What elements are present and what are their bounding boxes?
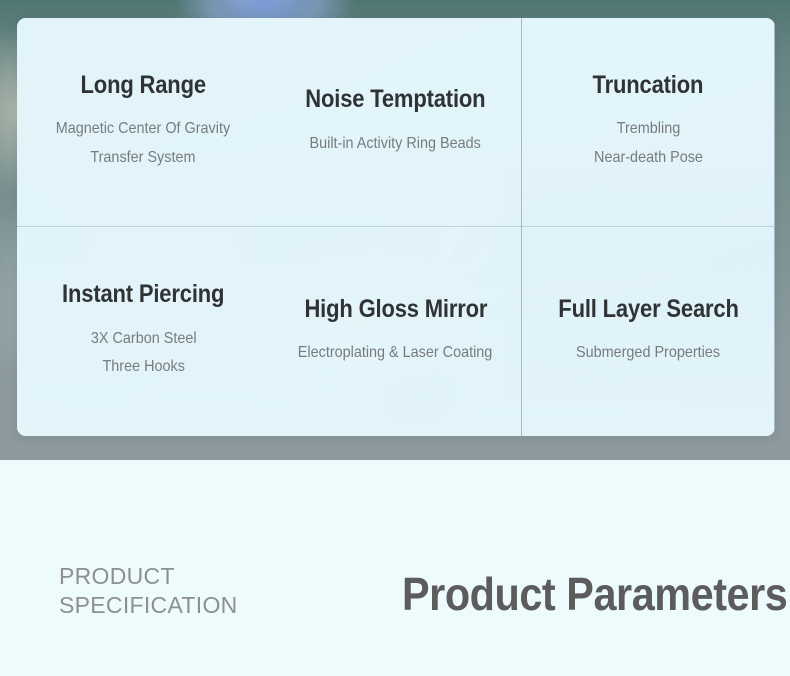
feature-cell-instant-piercing[interactable]: Instant Piercing 3X Carbon Steel Three H… <box>17 227 270 436</box>
feature-cell-noise-temptation[interactable]: Noise Temptation Built-in Activity Ring … <box>270 18 523 227</box>
feature-cell-truncation[interactable]: Truncation Trembling Near-death Pose <box>522 18 775 227</box>
product-feature-page: KINGDOM Quality Gloves Long Range Magnet… <box>0 0 790 676</box>
feature-subtitle: Submerged Properties <box>576 339 720 367</box>
feature-title: Long Range <box>81 72 206 100</box>
feature-title: Instant Piercing <box>62 281 224 309</box>
spec-section-title: Product Parameters <box>402 570 787 618</box>
feature-title: High Gloss Mirror <box>304 296 487 324</box>
feature-subtitle: Trembling Near-death Pose <box>594 115 703 172</box>
feature-title: Truncation <box>593 72 704 100</box>
feature-subtitle: Built-in Activity Ring Beads <box>310 130 481 158</box>
feature-subtitle: Magnetic Center Of Gravity Transfer Syst… <box>56 115 230 172</box>
feature-card: KINGDOM Quality Gloves Long Range Magnet… <box>17 18 775 436</box>
spec-kicker-label: PRODUCT SPECIFICATION <box>59 562 238 620</box>
feature-subtitle: Electroplating & Laser Coating <box>298 339 493 367</box>
feature-cell-long-range[interactable]: Long Range Magnetic Center Of Gravity Tr… <box>17 18 270 227</box>
feature-grid: Long Range Magnetic Center Of Gravity Tr… <box>17 18 775 436</box>
feature-cell-full-layer-search[interactable]: Full Layer Search Submerged Properties <box>522 227 775 436</box>
feature-cell-high-gloss-mirror[interactable]: High Gloss Mirror Electroplating & Laser… <box>270 227 523 436</box>
feature-title: Noise Temptation <box>305 86 485 114</box>
feature-title: Full Layer Search <box>558 296 738 324</box>
feature-subtitle: 3X Carbon Steel Three Hooks <box>90 325 196 382</box>
